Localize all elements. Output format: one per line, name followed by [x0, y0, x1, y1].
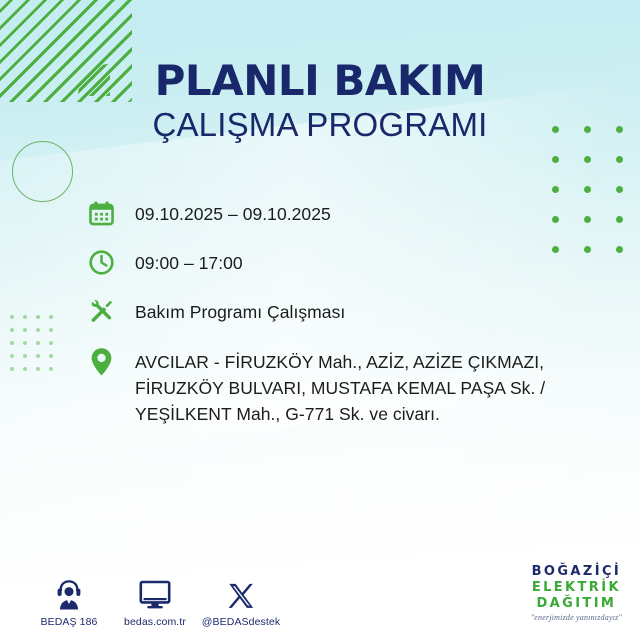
work-type-text: Bakım Programı Çalışması — [135, 298, 345, 325]
info-row-address: AVCILAR - FİRUZKÖY Mah., AZİZ, AZİZE ÇIK… — [86, 347, 606, 427]
title-main: PLANLI BAKIM — [0, 58, 640, 104]
contact-call-center[interactable]: BEDAŞ 186 — [26, 576, 112, 628]
contact-website[interactable]: bedas.com.tr — [112, 576, 198, 628]
bedas-logo: BOĞAZİÇİ ELEKTRİK DAĞITIM "enerjimizde y… — [531, 565, 622, 622]
time-range-text: 09:00 – 17:00 — [135, 249, 243, 276]
info-row-time: 09:00 – 17:00 — [86, 249, 606, 279]
brand-line-elektrik: ELEKTRİK — [531, 581, 622, 594]
date-range-text: 09.10.2025 – 09.10.2025 — [135, 200, 331, 227]
page-title: PLANLI BAKIM ÇALIŞMA PROGRAMI — [0, 58, 640, 144]
contact-website-label: bedas.com.tr — [112, 616, 198, 628]
brand-line-bogazici: BOĞAZİÇİ — [531, 565, 622, 578]
circle-outline-decoration — [12, 141, 73, 202]
monitor-website-icon — [112, 576, 198, 610]
footer: BEDAŞ 186 bedas.com.tr — [0, 548, 640, 640]
address-text: AVCILAR - FİRUZKÖY Mah., AZİZ, AZİZE ÇIK… — [135, 347, 606, 427]
contact-links: BEDAŞ 186 bedas.com.tr — [26, 576, 284, 628]
planned-maintenance-poster: PLANLI BAKIM ÇALIŞMA PROGRAMI 09 — [0, 0, 640, 640]
title-subtitle: ÇALIŞMA PROGRAMI — [0, 106, 640, 144]
location-pin-icon — [86, 347, 116, 377]
tools-icon — [86, 298, 116, 328]
outage-info-list: 09.10.2025 – 09.10.2025 09:00 – 17:00 Ba… — [86, 200, 606, 427]
contact-x-label: @BEDASdestek — [198, 616, 284, 628]
brand-line-dagitim: DAĞITIM — [531, 597, 622, 610]
clock-icon — [86, 249, 116, 279]
contact-call-center-label: BEDAŞ 186 — [26, 616, 112, 628]
brand-tagline: "enerjimizde yanınızdayız" — [531, 614, 622, 622]
info-row-work-type: Bakım Programı Çalışması — [86, 298, 606, 328]
info-row-date: 09.10.2025 – 09.10.2025 — [86, 200, 606, 230]
x-twitter-icon — [198, 576, 284, 610]
headset-support-icon — [26, 576, 112, 610]
calendar-icon — [86, 200, 116, 230]
contact-x-account[interactable]: @BEDASdestek — [198, 576, 284, 628]
